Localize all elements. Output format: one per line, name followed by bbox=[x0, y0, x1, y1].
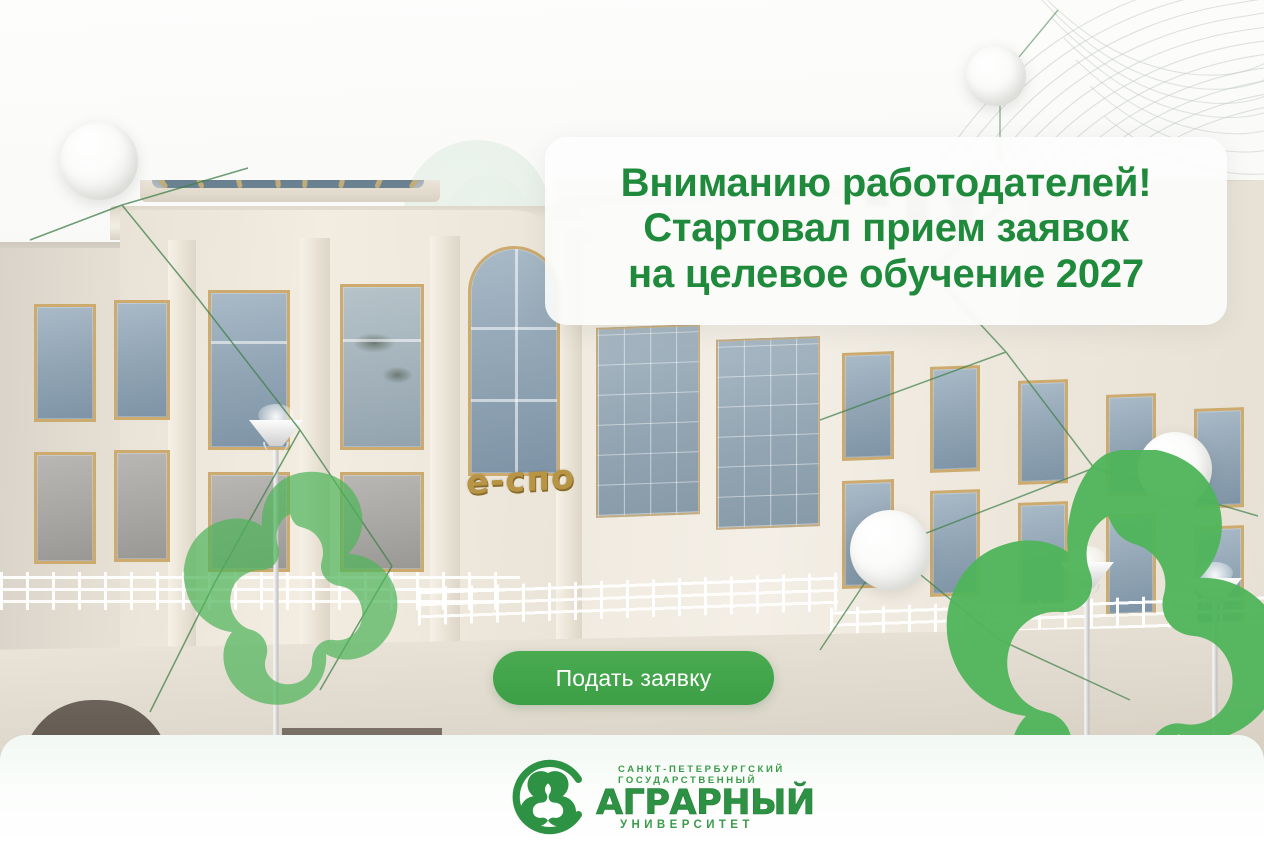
decor-sphere bbox=[850, 510, 930, 590]
window bbox=[842, 351, 894, 461]
promo-poster: е-спо ЛИНИИ ПИТАНИЯ bbox=[0, 0, 1264, 848]
curtain-wall bbox=[596, 324, 700, 518]
window bbox=[1018, 379, 1068, 485]
headline-card: Вниманию работодателей! Стартовал прием … bbox=[545, 137, 1227, 325]
logo-wordmark-block: САНКТ-ПЕТЕРБУРГСКИЙ ГОСУДАРСТВЕННЫЙ АГРА… bbox=[596, 759, 778, 835]
window bbox=[114, 300, 170, 420]
window bbox=[114, 450, 170, 562]
window bbox=[930, 489, 980, 597]
submit-application-button[interactable]: Подать заявку bbox=[493, 651, 774, 705]
glass-dome bbox=[152, 180, 424, 188]
street-lamp bbox=[248, 420, 304, 750]
curtain-wall bbox=[716, 336, 820, 530]
window bbox=[340, 472, 424, 572]
window bbox=[1018, 501, 1068, 607]
clover-in-circle-emblem bbox=[508, 757, 588, 837]
window bbox=[34, 304, 96, 422]
university-logo: САНКТ-ПЕТЕРБУРГСКИЙ ГОСУДАРСТВЕННЫЙ АГРА… bbox=[508, 757, 778, 837]
window bbox=[340, 284, 424, 450]
decor-sphere bbox=[966, 46, 1026, 106]
decor-sphere bbox=[60, 122, 138, 200]
decor-sphere bbox=[1138, 432, 1212, 506]
headline-line-1: Вниманию работодателей! bbox=[621, 161, 1152, 206]
building-gold-sign: е-спо bbox=[466, 457, 575, 503]
headline-line-2: Стартовал прием заявок bbox=[643, 206, 1129, 251]
window bbox=[930, 365, 980, 473]
logo-line-univ: УНИВЕРСИТЕТ bbox=[620, 819, 754, 831]
headline-line-3: на целевое обучение 2027 bbox=[628, 252, 1144, 297]
logo-main-word: АГРАРНЫЙ bbox=[596, 783, 815, 823]
window bbox=[34, 452, 96, 564]
logo-line-city: САНКТ-ПЕТЕРБУРГСКИЙ bbox=[618, 764, 785, 775]
